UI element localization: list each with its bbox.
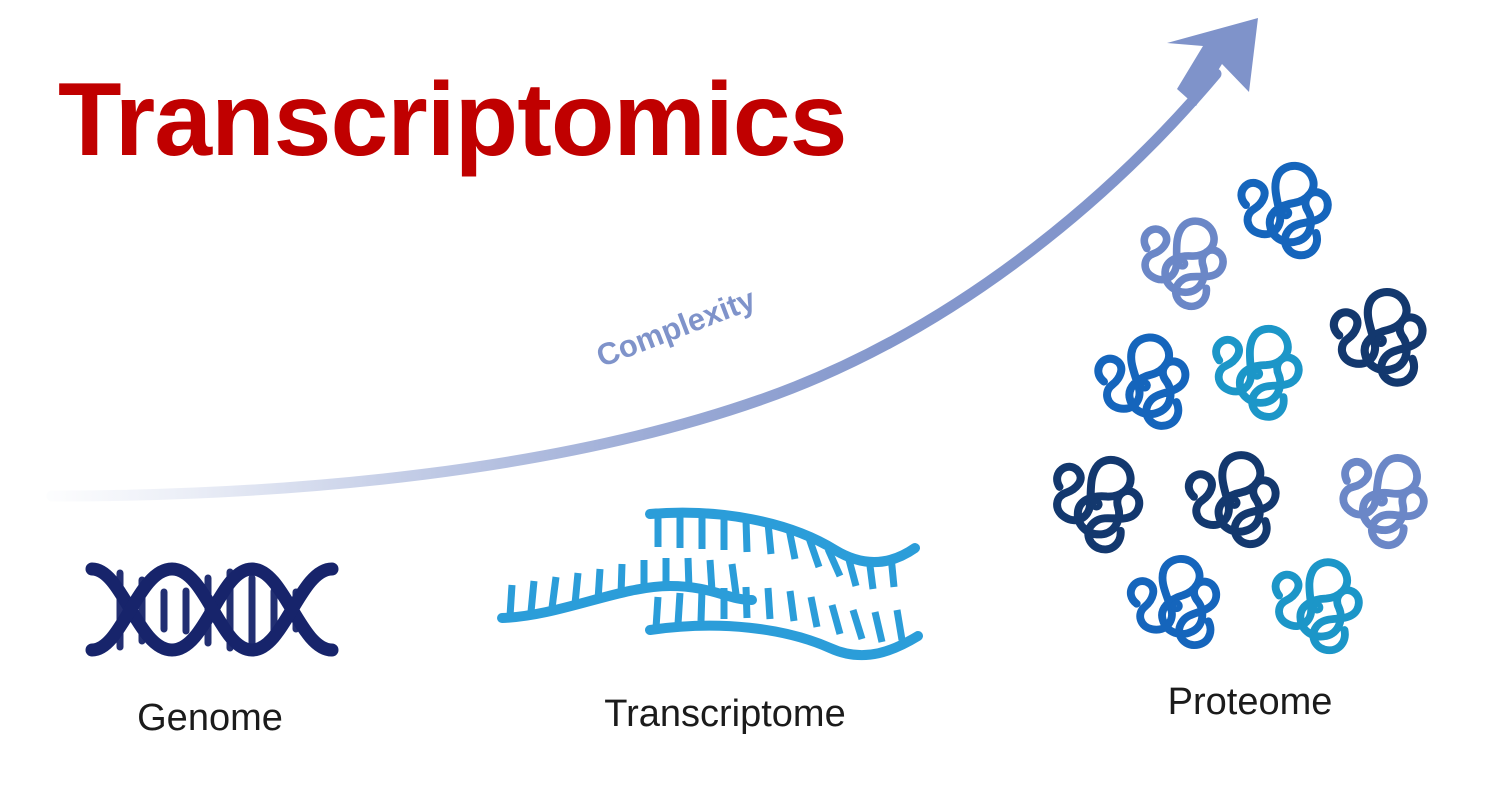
page-title: Transcriptomics (58, 68, 846, 172)
stage-transcriptome: Transcriptome (490, 490, 960, 736)
stage-proteome: Proteome (1030, 145, 1470, 724)
complexity-label: Complexity (592, 259, 820, 375)
protein-cluster-icon (1030, 145, 1470, 665)
stage-label-genome: Genome (60, 697, 360, 740)
protein-molecule (1127, 555, 1223, 654)
protein-molecule (1269, 557, 1362, 653)
dna-double-helix-icon (60, 545, 360, 675)
protein-molecule (1327, 443, 1435, 552)
protein-molecule (1187, 453, 1278, 547)
protein-molecule (1332, 290, 1426, 387)
stage-label-transcriptome: Transcriptome (490, 693, 960, 736)
protein-molecule (1043, 448, 1148, 556)
infographic-canvas: Transcriptomics Complexity (0, 0, 1500, 786)
protein-molecule (1095, 334, 1190, 432)
rna-strands-icon (490, 490, 960, 665)
arrow-head (1167, 18, 1258, 106)
rna-strand (650, 587, 918, 655)
stage-genome: Genome (60, 545, 360, 740)
protein-molecule (1133, 211, 1231, 311)
rna-strand (502, 558, 752, 618)
stage-label-proteome: Proteome (1030, 681, 1470, 724)
protein-molecule (1208, 322, 1304, 421)
protein-molecule (1241, 166, 1327, 255)
